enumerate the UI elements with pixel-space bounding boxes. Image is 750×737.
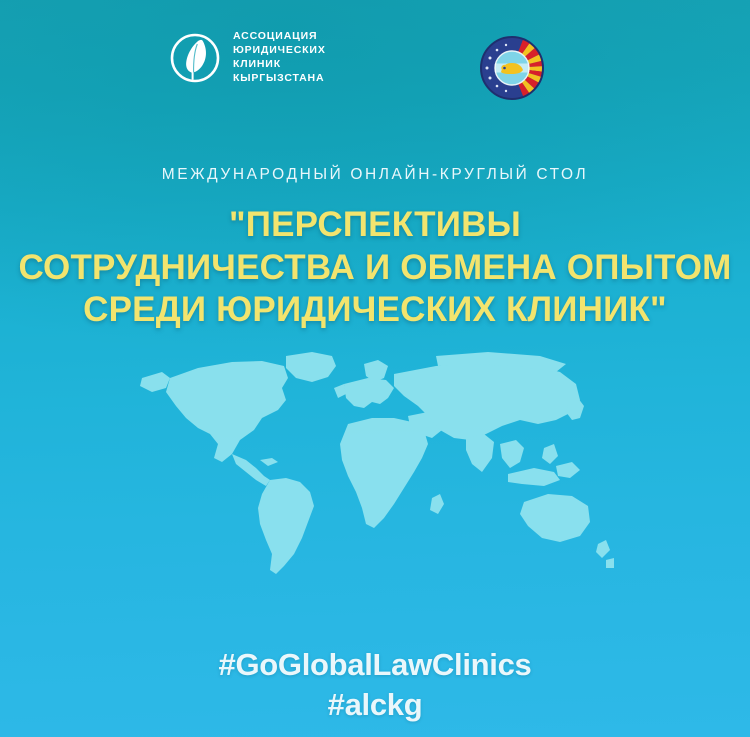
association-logo-line-3: КЛИНИК — [233, 58, 326, 72]
poster-canvas: АССОЦИАЦИЯ ЮРИДИЧЕСКИХ КЛИНИК КЫРГЫЗСТАН… — [0, 0, 750, 737]
headline-line-3: СРЕДИ ЮРИДИЧЕСКИХ КЛИНИК" — [0, 289, 750, 332]
headline-line-2: СОТРУДНИЧЕСТВА И ОБМЕНА ОПЫТОМ — [0, 247, 750, 290]
association-logo-line-1: АССОЦИАЦИЯ — [233, 30, 326, 44]
circular-state-emblem-logo-icon — [476, 32, 548, 104]
hashtag-secondary: #alckg — [0, 685, 750, 725]
association-logo-line-4: КЫРГЫЗСТАНА — [233, 72, 326, 86]
hashtag-primary: #GoGlobalLawClinics — [0, 645, 750, 685]
dotted-world-map — [136, 348, 616, 593]
association-logo-text: АССОЦИАЦИЯ ЮРИДИЧЕСКИХ КЛИНИК КЫРГЫЗСТАН… — [233, 30, 326, 86]
hashtags: #GoGlobalLawClinics #alckg — [0, 645, 750, 724]
feather-quill-in-circle-logo-icon — [168, 31, 222, 85]
logo-row: АССОЦИАЦИЯ ЮРИДИЧЕСКИХ КЛИНИК КЫРГЫЗСТАН… — [0, 18, 750, 128]
headline: "ПЕРСПЕКТИВЫ СОТРУДНИЧЕСТВА И ОБМЕНА ОПЫ… — [0, 204, 750, 332]
association-logo-line-2: ЮРИДИЧЕСКИХ — [233, 44, 326, 58]
kicker-text: МЕЖДУНАРОДНЫЙ ОНЛАЙН-КРУГЛЫЙ СТОЛ — [0, 166, 750, 184]
map-land-silhouette — [140, 352, 614, 574]
association-logo: АССОЦИАЦИЯ ЮРИДИЧЕСКИХ КЛИНИК КЫРГЫЗСТАН… — [168, 30, 326, 86]
headline-line-1: "ПЕРСПЕКТИВЫ — [0, 204, 750, 247]
